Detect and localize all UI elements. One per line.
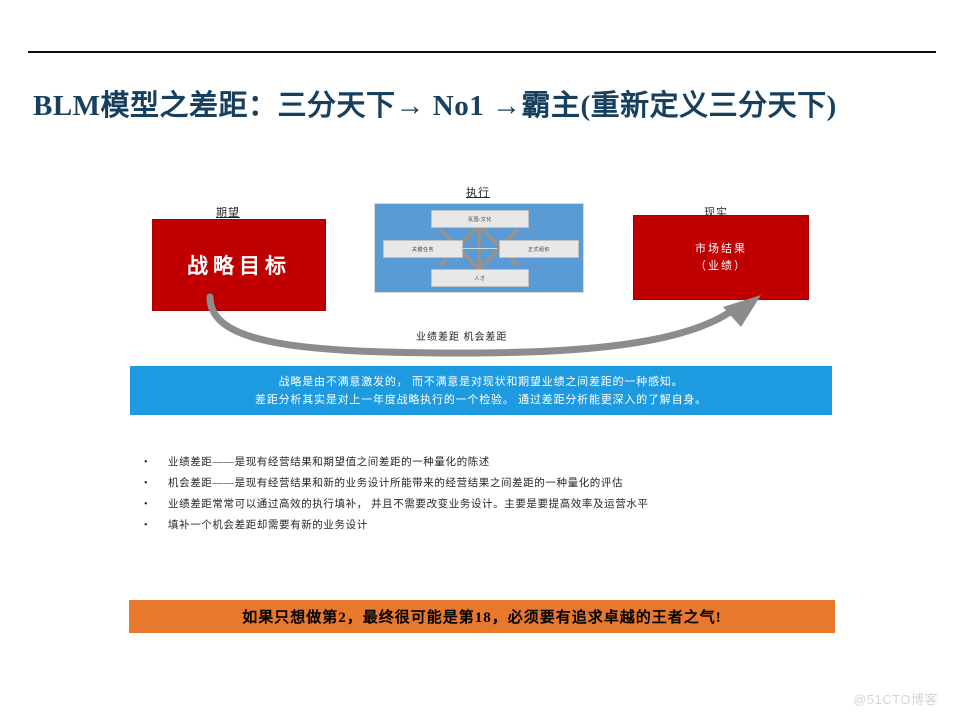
strategic-goal-label: 战略目标 <box>187 250 291 280</box>
execution-box-culture: 氛围/文化 <box>431 210 529 228</box>
blm-gap-diagram: 期望 执行 现实 战略目标 氛围/文化 关键任务 正式组织 人才 <box>0 175 960 360</box>
market-result-box: 市场结果 （业绩） <box>633 215 809 300</box>
strategy-definition-line1: 战略是由不满意激发的， 而不满意是对现状和期望业绩之间差距的一种感知。 <box>279 373 684 391</box>
bullet-marker: • <box>144 515 148 536</box>
list-item-text: 业绩差距——是现有经营结果和期望值之间差距的一种量化的陈述 <box>168 457 490 468</box>
strategy-definition-line2: 差距分析其实是对上一年度战略执行的一个检验。 通过差距分析能更深入的了解自身。 <box>255 391 707 409</box>
market-result-line1: 市场结果 <box>695 241 747 258</box>
call-to-action-text: 如果只想做第2，最终很可能是第18，必须要有追求卓越的王者之气! <box>242 606 722 627</box>
header-divider <box>28 51 936 53</box>
page-title: BLM模型之差距：三分天下→ No1 →霸主(重新定义三分天下) <box>33 88 923 124</box>
list-item-text: 填补一个机会差距却需要有新的业务设计 <box>168 520 368 531</box>
caption-execution: 执行 <box>466 184 490 200</box>
slide-canvas: BLM模型之差距：三分天下→ No1 →霸主(重新定义三分天下) 期望 执行 现… <box>0 0 960 720</box>
list-item: • 机会差距——是现有经营结果和新的业务设计所能带来的经营结果之间差距的一种量化… <box>140 473 860 494</box>
bullet-marker: • <box>144 452 148 473</box>
caption-expectation: 期望 <box>216 204 240 220</box>
call-to-action-banner: 如果只想做第2，最终很可能是第18，必须要有追求卓越的王者之气! <box>129 600 835 633</box>
execution-box-formal-organization-label: 正式组织 <box>528 246 550 253</box>
list-item: • 业绩差距常常可以通过高效的执行填补， 并且不需要改变业务设计。主要是要提高效… <box>140 494 860 515</box>
list-item-text: 业绩差距常常可以通过高效的执行填补， 并且不需要改变业务设计。主要是要提高效率及… <box>168 499 649 510</box>
gap-explanation-list: • 业绩差距——是现有经营结果和期望值之间差距的一种量化的陈述 • 机会差距——… <box>140 452 860 536</box>
bullet-marker: • <box>144 473 148 494</box>
strategy-definition-banner: 战略是由不满意激发的， 而不满意是对现状和期望业绩之间差距的一种感知。 差距分析… <box>130 366 832 415</box>
list-item: • 填补一个机会差距却需要有新的业务设计 <box>140 515 860 536</box>
execution-box-key-tasks-label: 关键任务 <box>412 246 434 253</box>
watermark: @51CTO博客 <box>853 689 938 708</box>
list-item-text: 机会差距——是现有经营结果和新的业务设计所能带来的经营结果之间差距的一种量化的评… <box>168 478 623 489</box>
execution-box-key-tasks: 关键任务 <box>383 240 463 258</box>
execution-box-culture-label: 氛围/文化 <box>468 216 492 223</box>
execution-box-talent-label: 人才 <box>474 275 485 282</box>
gap-type-labels: 业绩差距 机会差距 <box>416 328 508 343</box>
execution-box-formal-organization: 正式组织 <box>499 240 579 258</box>
list-item: • 业绩差距——是现有经营结果和期望值之间差距的一种量化的陈述 <box>140 452 860 473</box>
market-result-line2: （业绩） <box>695 258 747 275</box>
execution-box-talent: 人才 <box>431 269 529 287</box>
link-culture-talent <box>478 228 481 272</box>
execution-model-panel: 氛围/文化 关键任务 正式组织 人才 <box>374 203 584 293</box>
bullet-marker: • <box>144 494 148 515</box>
link-keytasks-formal <box>463 248 497 249</box>
